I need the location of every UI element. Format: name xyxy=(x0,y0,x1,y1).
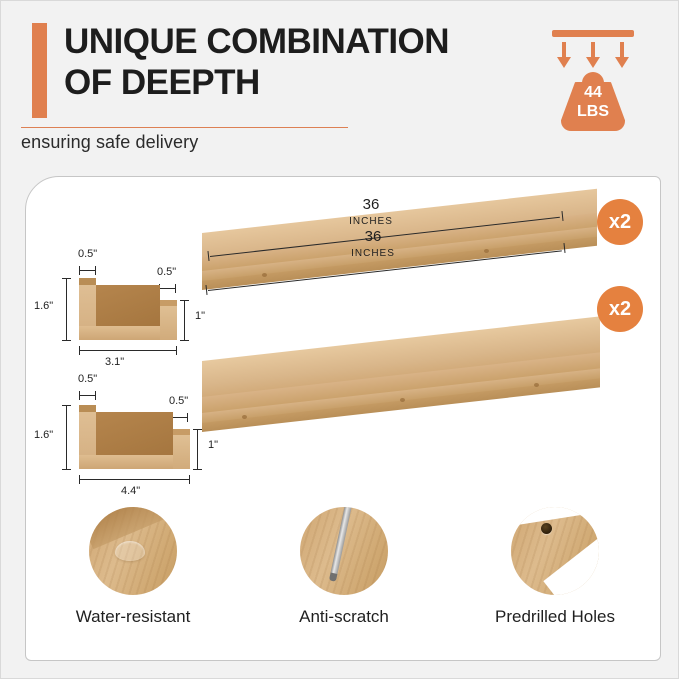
weight-value: 44 xyxy=(561,84,625,101)
down-arrow-icon xyxy=(615,42,629,68)
screw-hole-icon xyxy=(242,415,247,419)
weight-capacity-icon: 44 LBS xyxy=(545,26,641,131)
infographic-page: UNIQUE COMBINATION OF DEEPTH ensuring sa… xyxy=(0,0,679,679)
profile1-lip-thickness-label: 0.5" xyxy=(157,266,176,278)
deep-shelf-length: 36 INCHES xyxy=(328,229,418,261)
screw-hole-icon xyxy=(484,249,489,253)
screw-hole-icon xyxy=(400,398,405,402)
product-diagram-card: 0.5" 0.5" 1.6" 1" 3.1" xyxy=(25,176,661,661)
weight-unit: LBS xyxy=(561,103,625,120)
down-arrow-icon xyxy=(586,42,600,68)
profile2-back-thickness-label: 0.5" xyxy=(78,373,97,385)
drill-hole-icon xyxy=(541,523,552,534)
feature-label: Predrilled Holes xyxy=(465,607,645,627)
profile2-depth-label: 4.4" xyxy=(121,485,140,497)
accent-bar xyxy=(32,23,47,118)
profile1-height-label: 1.6" xyxy=(34,300,53,312)
deep-shelf-quantity-badge: x2 xyxy=(597,286,643,332)
header: UNIQUE COMBINATION OF DEEPTH ensuring sa… xyxy=(1,1,679,169)
metal-tool-scratch-icon xyxy=(300,507,388,595)
deep-shelf-render xyxy=(202,307,602,457)
profile1-depth-label: 3.1" xyxy=(105,356,124,368)
metal-rod-icon xyxy=(330,507,353,577)
screw-hole-icon xyxy=(262,273,267,277)
profile2-height-label: 1.6" xyxy=(34,429,53,441)
title-divider xyxy=(21,127,348,128)
page-title: UNIQUE COMBINATION OF DEEPTH xyxy=(64,21,534,103)
feature-label: Water-resistant xyxy=(43,607,223,627)
subtitle: ensuring safe delivery xyxy=(21,132,198,153)
shallow-shelf-length: 36 INCHES xyxy=(326,197,416,229)
profile1-back-thickness-label: 0.5" xyxy=(78,248,97,260)
title-line-1: UNIQUE COMBINATION xyxy=(64,22,449,61)
feature-label: Anti-scratch xyxy=(254,607,434,627)
water-droplet-on-wood-icon xyxy=(89,507,177,595)
shallow-shelf-quantity-badge: x2 xyxy=(597,199,643,245)
screw-hole-icon xyxy=(534,383,539,387)
predrilled-hole-icon xyxy=(511,507,599,595)
shelf-bar-icon xyxy=(552,30,634,37)
profile2-lip-thickness-label: 0.5" xyxy=(169,395,188,407)
down-arrow-icon xyxy=(557,42,571,68)
feature-list: Water-resistant Anti-scratch Predrilled … xyxy=(26,507,661,657)
title-line-2: OF DEEPTH xyxy=(64,62,534,103)
